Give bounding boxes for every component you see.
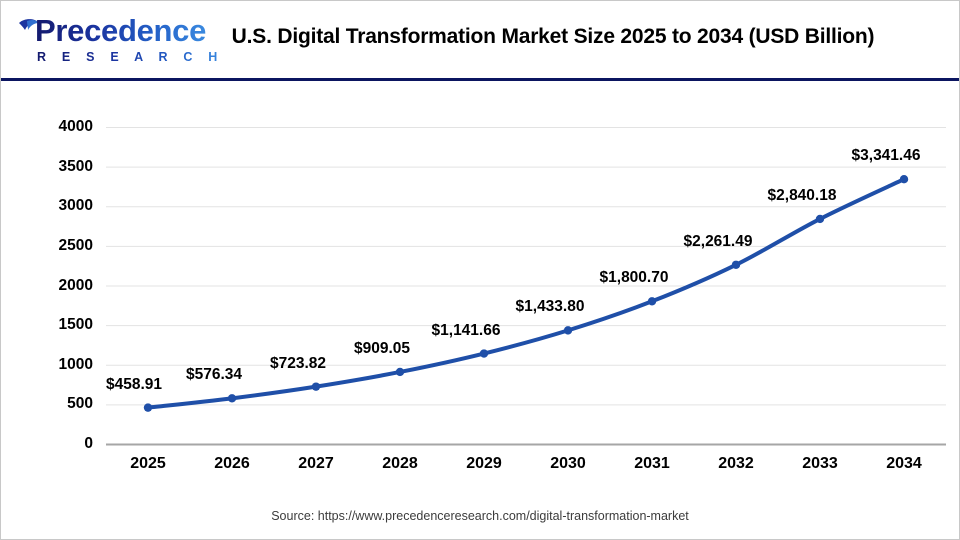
data-point-marker[interactable] xyxy=(648,297,656,305)
data-point-label: $2,840.18 xyxy=(737,187,867,204)
data-point-label: $909.05 xyxy=(317,340,447,357)
data-point-marker[interactable] xyxy=(144,403,152,411)
y-axis-tick-label: 3000 xyxy=(29,198,93,214)
data-point-marker[interactable] xyxy=(564,326,572,334)
x-axis-tick-label: 2033 xyxy=(778,455,862,473)
data-point-marker[interactable] xyxy=(480,349,488,357)
chart-title: U.S. Digital Transformation Market Size … xyxy=(173,25,933,49)
y-axis-tick-label: 2000 xyxy=(29,278,93,294)
data-point-marker[interactable] xyxy=(732,261,740,269)
data-point-marker[interactable] xyxy=(396,368,404,376)
x-axis-tick-label: 2034 xyxy=(862,455,946,473)
data-point-marker[interactable] xyxy=(228,394,236,402)
source-note: Source: https://www.precedenceresearch.c… xyxy=(1,509,959,523)
data-point-label: $723.82 xyxy=(233,355,363,372)
data-point-label: $1,141.66 xyxy=(401,322,531,339)
x-axis-tick-label: 2025 xyxy=(106,455,190,473)
precedence-research-logo: Precedence R E S E A R C H xyxy=(13,14,165,68)
data-point-marker[interactable] xyxy=(900,175,908,183)
y-axis-tick-label: 1000 xyxy=(29,357,93,373)
data-point-label: $3,341.46 xyxy=(821,147,951,164)
x-axis-tick-label: 2029 xyxy=(442,455,526,473)
x-axis-tick-label: 2030 xyxy=(526,455,610,473)
y-axis-tick-label: 3500 xyxy=(29,159,93,175)
data-point-label: $2,261.49 xyxy=(653,233,783,250)
x-axis-tick-label: 2027 xyxy=(274,455,358,473)
data-point-marker[interactable] xyxy=(312,382,320,390)
y-axis-tick-label: 2500 xyxy=(29,238,93,254)
y-axis-tick-label: 1500 xyxy=(29,317,93,333)
y-axis-tick-label: 0 xyxy=(29,436,93,452)
x-axis-tick-label: 2028 xyxy=(358,455,442,473)
data-point-marker[interactable] xyxy=(816,215,824,223)
chart-figure: Precedence R E S E A R C H U.S. Digital … xyxy=(0,0,960,540)
logo-subtitle: R E S E A R C H xyxy=(37,50,224,64)
data-point-label: $1,433.80 xyxy=(485,298,615,315)
x-axis-tick-label: 2031 xyxy=(610,455,694,473)
figure-header: Precedence R E S E A R C H U.S. Digital … xyxy=(1,1,959,78)
x-axis-tick-label: 2032 xyxy=(694,455,778,473)
plot-area: 05001000150020002500300035004000 2025202… xyxy=(1,81,959,539)
x-axis-tick-label: 2026 xyxy=(190,455,274,473)
y-axis-tick-label: 500 xyxy=(29,396,93,412)
y-axis-tick-label: 4000 xyxy=(29,119,93,135)
data-point-label: $1,800.70 xyxy=(569,269,699,286)
